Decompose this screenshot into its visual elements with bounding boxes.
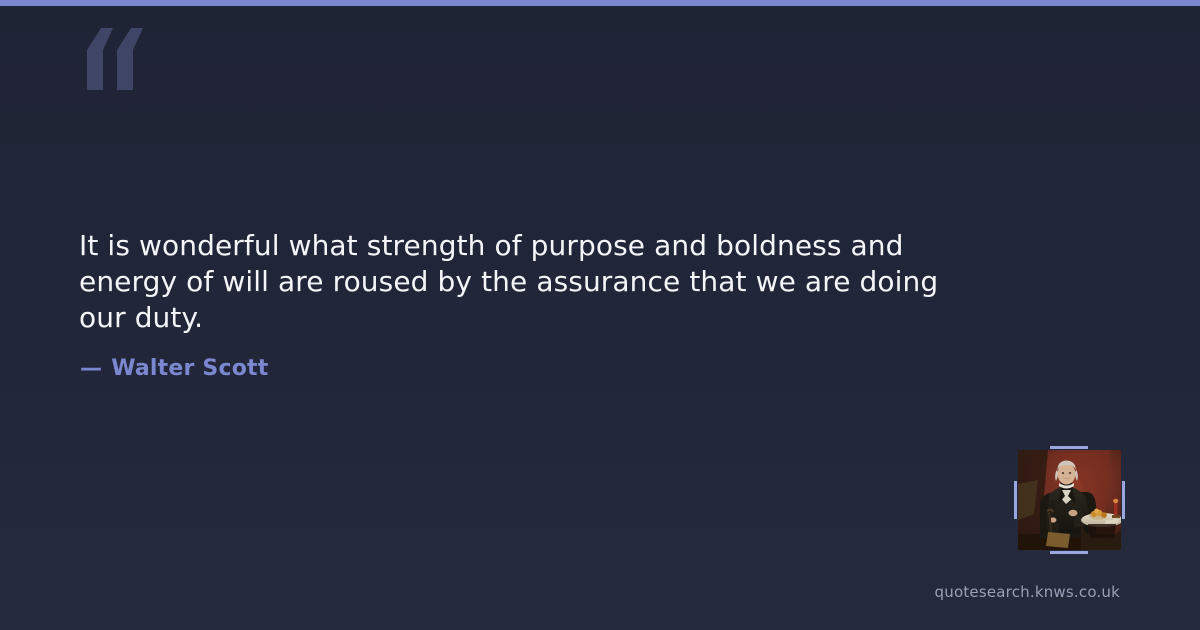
author-dash: — bbox=[80, 356, 102, 381]
author-name: Walter Scott bbox=[111, 356, 268, 381]
quote-author: —Walter Scott bbox=[80, 356, 268, 381]
resize-handle-right[interactable] bbox=[1122, 481, 1125, 519]
source-url[interactable]: quotesearch.knws.co.uk bbox=[935, 583, 1120, 601]
author-portrait[interactable] bbox=[1018, 450, 1121, 550]
quotation-mark-icon bbox=[79, 28, 149, 90]
portrait-image[interactable] bbox=[1018, 450, 1121, 550]
quote-text: It is wonderful what strength of purpose… bbox=[79, 228, 979, 336]
resize-handle-bottom[interactable] bbox=[1050, 551, 1088, 554]
resize-handle-left[interactable] bbox=[1014, 481, 1017, 519]
quote-card: It is wonderful what strength of purpose… bbox=[0, 0, 1200, 630]
resize-handle-top[interactable] bbox=[1050, 446, 1088, 449]
top-accent-bar bbox=[0, 0, 1200, 6]
